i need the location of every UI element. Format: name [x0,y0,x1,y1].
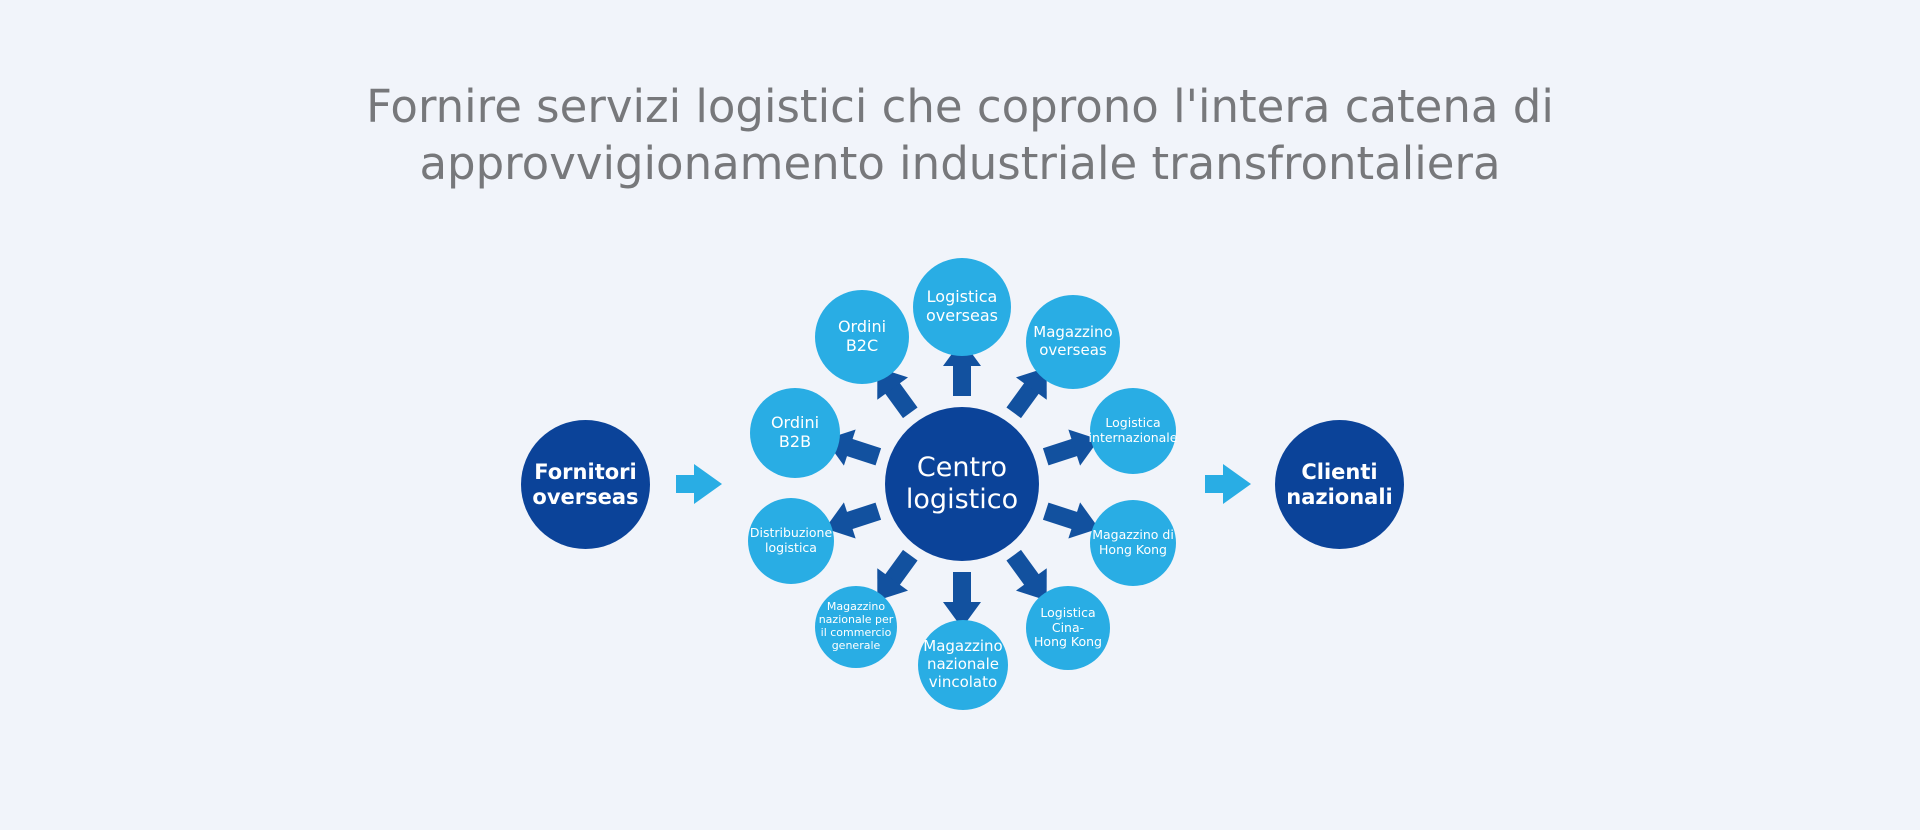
node-magazzino-overseas[interactable]: Magazzino overseas [1026,295,1120,389]
logistics-hub-diagram: Logistica overseas Magazzino overseas Lo… [0,0,1920,830]
node-label: Ordini B2C [838,318,886,356]
node-label: Magazzino nazionale vincolato [923,638,1002,691]
node-ordini-b2c[interactable]: Ordini B2C [815,290,909,384]
node-label: Magazzino overseas [1033,324,1112,359]
node-label: Distribuzione logistica [750,526,832,556]
flow-arrow-suppliers-to-hub [676,464,722,504]
flow-arrow-hub-to-clients [1205,464,1251,504]
flow-arrow-head [694,464,722,504]
node-label: Magazzino nazionale per il commercio gen… [819,601,894,653]
diagram-page: Fornire servizi logistici che coprono l'… [0,0,1920,830]
node-label: Magazzino di Hong Kong [1092,528,1174,558]
node-label: Fornitori overseas [532,460,638,510]
node-magazzino-nazionale-commercio-generale[interactable]: Magazzino nazionale per il commercio gen… [815,586,897,668]
node-magazzino-hong-kong[interactable]: Magazzino di Hong Kong [1090,500,1176,586]
node-logistica-internazionale[interactable]: Logistica internazionale [1090,388,1176,474]
node-label: Ordini B2B [771,414,819,452]
node-label: Centro logistico [906,452,1018,516]
node-centro-logistico[interactable]: Centro logistico [885,407,1039,561]
node-distribuzione-logistica[interactable]: Distribuzione logistica [748,498,834,584]
node-label: Logistica overseas [926,288,998,326]
node-label: Logistica internazionale [1089,416,1178,446]
node-magazzino-nazionale-vincolato[interactable]: Magazzino nazionale vincolato [918,620,1008,710]
node-fornitori-overseas[interactable]: Fornitori overseas [521,420,650,549]
node-ordini-b2b[interactable]: Ordini B2B [750,388,840,478]
node-clienti-nazionali[interactable]: Clienti nazionali [1275,420,1404,549]
flow-arrow-head [1223,464,1251,504]
node-logistica-overseas[interactable]: Logistica overseas [913,258,1011,356]
node-label: Clienti nazionali [1286,460,1393,510]
node-logistica-cina-hong-kong[interactable]: Logistica Cina- Hong Kong [1026,586,1110,670]
node-label: Logistica Cina- Hong Kong [1028,606,1108,650]
